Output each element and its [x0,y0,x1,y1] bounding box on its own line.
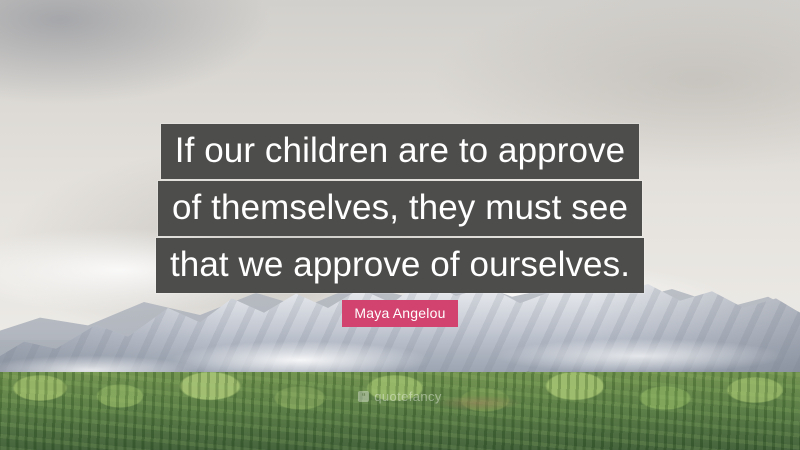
quote-mark-icon: “ [358,391,369,402]
watermark: “ quotefancy [0,390,800,403]
quote-image: If our children are to approve of themse… [0,0,800,450]
author-name-badge: Maya Angelou [342,300,457,327]
quote-text-block: If our children are to approve of themse… [0,124,800,293]
watermark-label: quotefancy [374,390,442,403]
forest-texture-overlay [0,372,800,450]
quote-line-1: If our children are to approve [161,124,639,179]
quote-line-2: of themselves, they must see [158,181,642,236]
author-attribution: Maya Angelou [0,300,800,327]
quote-line-3: that we approve of ourselves. [156,238,644,293]
